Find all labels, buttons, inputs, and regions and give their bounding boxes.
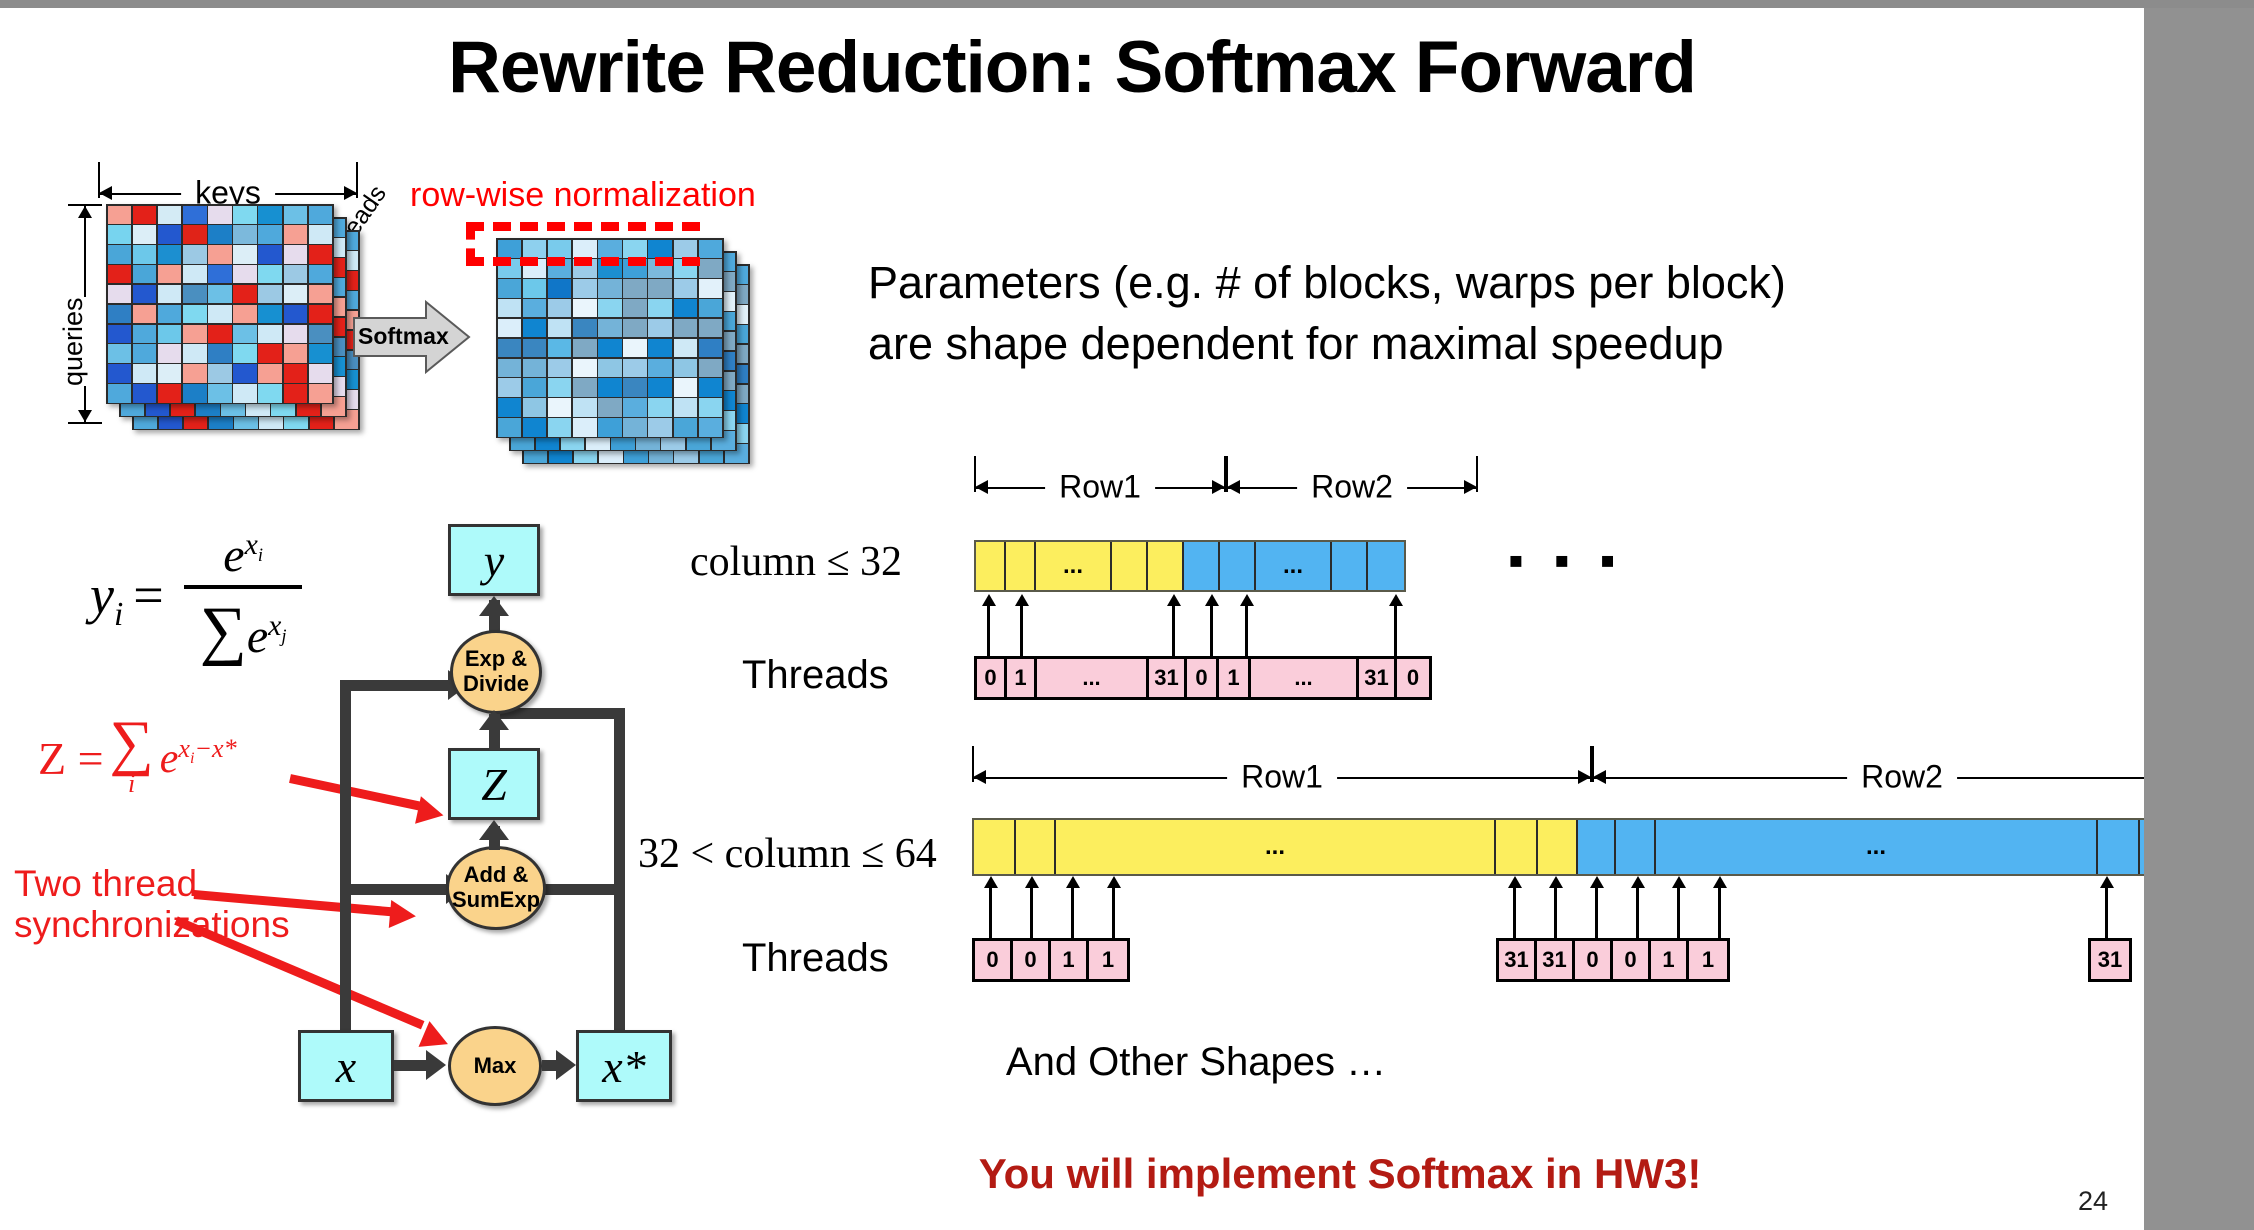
matrix-cell xyxy=(208,344,232,362)
thread-to-data-arrow xyxy=(1631,876,1645,938)
node-xstar-label: x* xyxy=(602,1040,645,1093)
matrix-cell xyxy=(158,344,182,362)
matrix-cell xyxy=(133,305,157,323)
edge-xstar-bus-vertical xyxy=(614,708,625,1054)
matrix-cell xyxy=(284,206,308,224)
thread-to-data-arrow xyxy=(1713,876,1727,938)
data-cell[interactable] xyxy=(1148,542,1184,590)
matrix-cell xyxy=(309,344,333,362)
matrix-cell xyxy=(183,245,207,263)
node-xstar[interactable]: x* xyxy=(576,1030,672,1102)
matrix-cell xyxy=(623,359,647,377)
span-label-row2: Row2 xyxy=(1847,759,1957,796)
row-diagram-1-trailing-dots: ▪ ▪ ▪ xyxy=(1508,536,1624,586)
thread-to-data-arrow xyxy=(1672,876,1686,938)
matrix-cell xyxy=(598,319,622,337)
node-exp-divide-line2: Divide xyxy=(463,672,529,697)
z-sigma-group: ∑ i xyxy=(110,718,154,799)
matrix-cell xyxy=(284,364,308,382)
z-e: e xyxy=(160,736,179,782)
row-diagram-2-thread-group-1[interactable]: 0011 xyxy=(972,938,1130,982)
matrix-cell xyxy=(233,285,257,303)
node-y[interactable]: y xyxy=(448,524,540,596)
matrix-cell xyxy=(158,364,182,382)
den-sigma: ∑ xyxy=(200,594,247,667)
matrix-cell xyxy=(208,206,232,224)
thread-cell[interactable]: 31 xyxy=(2091,941,2129,979)
arrow-stem xyxy=(1071,886,1074,938)
matrix-cell xyxy=(699,378,723,396)
matrix-cell xyxy=(284,245,308,263)
data-cell[interactable] xyxy=(1006,542,1036,590)
matrix-cell xyxy=(133,245,157,263)
matrix-cell xyxy=(258,206,282,224)
matrix-cell xyxy=(498,378,522,396)
thread-to-data-arrow xyxy=(1389,594,1403,656)
matrix-layer-front xyxy=(106,204,334,404)
data-cell[interactable] xyxy=(1332,542,1368,590)
top-gray-bar xyxy=(0,0,2254,8)
screen-canvas: Rewrite Reduction: Softmax Forward keys … xyxy=(0,0,2254,1230)
thread-to-data-arrow xyxy=(984,876,998,938)
z-exp-x: x xyxy=(178,734,190,763)
data-cell[interactable] xyxy=(1496,820,1538,874)
node-add-sumexp-line1: Add & xyxy=(464,863,529,888)
arrow-stem xyxy=(1677,886,1680,938)
thread-to-data-arrow xyxy=(1590,876,1604,938)
thread-cell[interactable]: 0 xyxy=(975,941,1013,979)
matrix-cell xyxy=(108,245,132,263)
thread-cell[interactable]: 0 xyxy=(1613,941,1651,979)
arrow-stem xyxy=(1718,886,1721,938)
data-cell[interactable]: ... xyxy=(1036,542,1112,590)
matrix-cell xyxy=(674,319,698,337)
arrow-stem xyxy=(2105,886,2108,938)
edge-arrow-into-Z xyxy=(479,820,509,840)
matrix-cell xyxy=(699,299,723,317)
matrix-cell xyxy=(108,206,132,224)
span-arrow-left xyxy=(975,480,988,494)
arrow-stem xyxy=(1394,604,1397,656)
matrix-cell xyxy=(233,265,257,283)
arrow-stem xyxy=(1210,604,1213,656)
z-rhs: exi−x* xyxy=(160,734,237,783)
matrix-cell xyxy=(548,378,572,396)
thread-cell[interactable]: 1 xyxy=(1007,659,1037,697)
data-cell[interactable] xyxy=(2098,820,2140,874)
matrix-cell xyxy=(183,364,207,382)
row-diagram-2-data-bar[interactable]: ...... xyxy=(972,818,2144,876)
den-exp: xj xyxy=(268,609,286,642)
arrow-stem xyxy=(1636,886,1639,938)
matrix-cell xyxy=(523,299,547,317)
matrix-cell xyxy=(233,206,257,224)
matrix-cell xyxy=(623,378,647,396)
span-arrow-left xyxy=(1593,770,1606,784)
thread-to-data-arrow xyxy=(1205,594,1219,656)
row-diagram-1-data-bar[interactable]: ...... xyxy=(974,540,1406,592)
matrix-cell xyxy=(309,325,333,343)
span-arrow-left xyxy=(973,770,986,784)
data-cell[interactable]: ... xyxy=(1256,542,1332,590)
row-diagram-1-threads-label: Threads xyxy=(742,653,889,698)
data-cell[interactable] xyxy=(1220,542,1256,590)
matrix-cell xyxy=(284,344,308,362)
body-line-2: are shape dependent for maximal speedup xyxy=(868,314,1786,375)
matrix-cell xyxy=(598,279,622,297)
matrix-cell xyxy=(158,225,182,243)
matrix-cell xyxy=(699,319,723,337)
matrix-cell xyxy=(623,339,647,357)
thread-cell[interactable]: 1 xyxy=(1689,941,1727,979)
thread-to-data-arrow xyxy=(1167,594,1181,656)
edge-x-to-max xyxy=(394,1060,428,1071)
row-highlight-dashed-box xyxy=(466,222,700,266)
thread-cell[interactable]: 31 xyxy=(1537,941,1575,979)
matrix-cell xyxy=(133,364,157,382)
z-exp-rest: −x* xyxy=(194,734,236,763)
matrix-cell xyxy=(498,299,522,317)
softmax-arrow: Softmax xyxy=(352,298,472,376)
matrix-cell xyxy=(258,225,282,243)
arrow-stem xyxy=(1020,604,1023,656)
formula-y: y xyxy=(90,565,114,625)
matrix-cell xyxy=(233,384,257,402)
matrix-cell xyxy=(258,245,282,263)
matrix-cell xyxy=(233,225,257,243)
node-add-sumexp[interactable]: Add & SumExp xyxy=(446,846,546,930)
row-diagram-2-threads-label: Threads xyxy=(742,936,889,981)
matrix-cell xyxy=(309,384,333,402)
node-max[interactable]: Max xyxy=(448,1026,542,1106)
matrix-cell xyxy=(183,285,207,303)
output-softmax-matrix xyxy=(496,238,756,468)
thread-cell[interactable]: 1 xyxy=(1051,941,1089,979)
thread-cell[interactable]: 0 xyxy=(977,659,1007,697)
data-cell[interactable] xyxy=(1368,542,1404,590)
matrix-cell xyxy=(133,206,157,224)
matrix-cell xyxy=(258,364,282,382)
matrix-cell xyxy=(573,299,597,317)
data-cell[interactable] xyxy=(1016,820,1056,874)
formula-lhs: yi= xyxy=(90,564,174,634)
matrix-cell xyxy=(183,265,207,283)
matrix-cell xyxy=(208,225,232,243)
thread-cell[interactable]: 31 xyxy=(1149,659,1187,697)
thread-to-data-arrow xyxy=(1107,876,1121,938)
matrix-cell xyxy=(699,359,723,377)
row-diagram-1-thread-bar[interactable]: 01...3101...310 xyxy=(974,656,1432,700)
matrix-cell xyxy=(548,319,572,337)
matrix-cell xyxy=(648,319,672,337)
matrix-cell xyxy=(309,364,333,382)
matrix-cell xyxy=(284,225,308,243)
den-exp-x: x xyxy=(268,609,281,642)
matrix-cell xyxy=(133,285,157,303)
z-exponent: xi−x* xyxy=(178,734,236,763)
den-exp-sub: j xyxy=(281,626,286,646)
thread-cell[interactable]: 1 xyxy=(1089,941,1127,979)
arrow-stem xyxy=(1172,604,1175,656)
matrix-cell xyxy=(208,245,232,263)
node-exp-divide-line1: Exp & xyxy=(465,647,527,672)
matrix-cell xyxy=(309,245,333,263)
matrix-cell xyxy=(133,265,157,283)
data-cell[interactable] xyxy=(2140,820,2144,874)
matrix-cell xyxy=(233,344,257,362)
matrix-cell xyxy=(208,364,232,382)
formula-numerator: exi xyxy=(207,528,279,585)
matrix-cell xyxy=(699,339,723,357)
matrix-cell xyxy=(648,398,672,416)
thread-to-data-arrow xyxy=(1066,876,1080,938)
span-arrow-right xyxy=(1578,770,1591,784)
matrix-cell xyxy=(309,206,333,224)
matrix-cell xyxy=(183,344,207,362)
ruler-end-bottom xyxy=(68,422,102,424)
row-wise-normalization-label: row-wise normalization xyxy=(410,176,756,215)
matrix-cell xyxy=(233,325,257,343)
matrix-cell xyxy=(674,398,698,416)
other-shapes-note: And Other Shapes … xyxy=(1006,1040,1386,1085)
matrix-cell xyxy=(284,265,308,283)
matrix-cell xyxy=(208,384,232,402)
row-diagram-1-row1-span: Row1 xyxy=(974,470,1226,504)
row-diagram-2-thread-group-3[interactable]: 31 xyxy=(2088,938,2132,982)
matrix-cell xyxy=(598,299,622,317)
matrix-cell xyxy=(523,339,547,357)
matrix-cell xyxy=(623,299,647,317)
matrix-cell xyxy=(573,279,597,297)
matrix-cell xyxy=(158,206,182,224)
matrix-cell xyxy=(258,305,282,323)
matrix-cell xyxy=(598,418,622,436)
matrix-cell xyxy=(573,359,597,377)
matrix-cell xyxy=(573,398,597,416)
matrix-cell xyxy=(133,384,157,402)
matrix-cell xyxy=(699,398,723,416)
matrix-cell xyxy=(548,398,572,416)
matrix-cell xyxy=(548,339,572,357)
matrix-cell xyxy=(258,285,282,303)
matrix-cell xyxy=(498,398,522,416)
thread-cell[interactable]: 0 xyxy=(1187,659,1219,697)
data-cell[interactable] xyxy=(1616,820,1656,874)
num-exp-sub: i xyxy=(258,545,263,565)
matrix-cell xyxy=(674,279,698,297)
matrix-cell xyxy=(598,378,622,396)
matrix-cell xyxy=(183,305,207,323)
thread-to-data-arrow xyxy=(1508,876,1522,938)
data-cell[interactable] xyxy=(976,542,1006,590)
matrix-cell xyxy=(208,285,232,303)
matrix-cell xyxy=(623,319,647,337)
data-cell[interactable] xyxy=(1112,542,1148,590)
matrix-cell xyxy=(158,384,182,402)
thread-to-data-arrow xyxy=(1549,876,1563,938)
thread-cell[interactable]: ... xyxy=(1037,659,1149,697)
matrix-cell xyxy=(523,359,547,377)
matrix-cell xyxy=(674,378,698,396)
matrix-cell xyxy=(183,384,207,402)
red-pointer-arrow-max xyxy=(176,916,466,1036)
z-lhs: Z = xyxy=(38,732,104,785)
matrix-cell xyxy=(233,305,257,323)
matrix-cell xyxy=(183,225,207,243)
matrix-cell xyxy=(598,339,622,357)
arrow-stem xyxy=(1245,604,1248,656)
z-formula: Z = ∑ i exi−x* xyxy=(38,718,237,799)
data-cell[interactable]: ... xyxy=(1656,820,2098,874)
data-cell[interactable] xyxy=(1538,820,1578,874)
matrix-cell xyxy=(183,206,207,224)
matrix-cell xyxy=(108,364,132,382)
arrow-stem xyxy=(1112,886,1115,938)
matrix-cell xyxy=(284,384,308,402)
data-cell[interactable] xyxy=(974,820,1016,874)
thread-cell[interactable]: 0 xyxy=(1575,941,1613,979)
matrix-cell xyxy=(498,418,522,436)
matrix-cell xyxy=(284,305,308,323)
matrix-cell xyxy=(258,325,282,343)
matrix-cell xyxy=(648,339,672,357)
thread-to-data-arrow xyxy=(2100,876,2114,938)
matrix-cell xyxy=(498,359,522,377)
matrix-cell xyxy=(598,398,622,416)
data-cell[interactable]: ... xyxy=(1056,820,1496,874)
arrow-stem xyxy=(1513,886,1516,938)
matrix-cell xyxy=(623,398,647,416)
matrix-cell xyxy=(158,285,182,303)
matrix-layer-front xyxy=(496,238,724,438)
softmax-arrow-label: Softmax xyxy=(358,323,449,350)
edge-arrow-into-y xyxy=(479,596,509,616)
node-exp-divide[interactable]: Exp & Divide xyxy=(450,630,542,714)
data-cell[interactable] xyxy=(1578,820,1616,874)
row-diagram-2-thread-group-2[interactable]: 31310011 xyxy=(1496,938,1730,982)
matrix-cell xyxy=(183,325,207,343)
thread-cell[interactable]: 0 xyxy=(1013,941,1051,979)
formula-equals: = xyxy=(123,565,173,625)
softmax-formula: yi= exi ∑exj xyxy=(90,528,302,669)
num-exp-x: x xyxy=(245,528,258,561)
arrow-stem xyxy=(1554,886,1557,938)
matrix-cell xyxy=(498,339,522,357)
arrow-shaft xyxy=(289,774,420,810)
page-number: 24 xyxy=(2078,1186,2108,1217)
node-Z[interactable]: Z xyxy=(448,748,540,820)
arrow-stem xyxy=(987,604,990,656)
edge-x-to-expdivide-horizontal xyxy=(340,680,450,691)
formula-fraction: exi ∑exj xyxy=(184,528,303,669)
row-diagram-2-row1-span: Row1 xyxy=(972,760,1592,794)
matrix-cell xyxy=(158,265,182,283)
matrix-cell xyxy=(523,319,547,337)
matrix-cell xyxy=(258,384,282,402)
matrix-cell xyxy=(548,418,572,436)
matrix-cell xyxy=(309,305,333,323)
matrix-cell xyxy=(498,319,522,337)
span-label-row1: Row1 xyxy=(1227,759,1337,796)
matrix-cell xyxy=(573,339,597,357)
matrix-cell xyxy=(548,359,572,377)
matrix-cell xyxy=(208,325,232,343)
matrix-cell xyxy=(158,325,182,343)
matrix-cell xyxy=(498,279,522,297)
matrix-cell xyxy=(699,279,723,297)
matrix-cell xyxy=(309,225,333,243)
matrix-cell xyxy=(258,265,282,283)
thread-cell[interactable]: 1 xyxy=(1219,659,1251,697)
thread-cell[interactable]: 0 xyxy=(1397,659,1429,697)
matrix-cell xyxy=(648,299,672,317)
den-e: e xyxy=(247,610,268,663)
arrow-stem xyxy=(1030,886,1033,938)
matrix-cell xyxy=(309,265,333,283)
node-x[interactable]: x xyxy=(298,1030,394,1102)
matrix-cell xyxy=(108,344,132,362)
matrix-cell xyxy=(573,378,597,396)
matrix-cell xyxy=(158,305,182,323)
matrix-cell xyxy=(623,418,647,436)
span-arrow-right xyxy=(1212,480,1225,494)
thread-cell[interactable]: ... xyxy=(1251,659,1359,697)
thread-to-data-arrow xyxy=(982,594,996,656)
edge-xstar-to-addsumexp-horizontal xyxy=(540,884,625,895)
formula-y-subscript: i xyxy=(114,595,123,632)
matrix-cell xyxy=(208,265,232,283)
row-diagram-1-row2-span: Row2 xyxy=(1226,470,1478,504)
edge-arrow-into-expdivide-bottom xyxy=(479,710,509,730)
edge-x-to-addsumexp-horizontal xyxy=(340,884,448,895)
matrix-cell xyxy=(523,378,547,396)
row-diagram-2-condition: 32 < column ≤ 64 xyxy=(638,830,937,878)
matrix-cell xyxy=(573,319,597,337)
formula-denominator: ∑exj xyxy=(184,589,303,669)
data-cell[interactable] xyxy=(1184,542,1220,590)
thread-cell[interactable]: 31 xyxy=(1499,941,1537,979)
matrix-cell xyxy=(648,279,672,297)
matrix-cell xyxy=(548,279,572,297)
matrix-cell xyxy=(523,398,547,416)
ruler-arrow-left xyxy=(99,186,112,200)
matrix-cell xyxy=(108,225,132,243)
matrix-cell xyxy=(233,245,257,263)
node-y-label: y xyxy=(484,534,504,587)
node-add-sumexp-line2: SumExp xyxy=(452,888,540,913)
matrix-cell xyxy=(623,279,647,297)
matrix-cell xyxy=(133,325,157,343)
z-sigma-index: i xyxy=(128,769,135,799)
matrix-cell xyxy=(108,265,132,283)
thread-cell[interactable]: 1 xyxy=(1651,941,1689,979)
z-sigma: ∑ xyxy=(110,718,154,769)
thread-cell[interactable]: 31 xyxy=(1359,659,1397,697)
span-label-row1: Row1 xyxy=(1045,469,1155,506)
matrix-cell xyxy=(523,279,547,297)
edge-x-bus-vertical xyxy=(340,680,351,1062)
span-label-row2: Row2 xyxy=(1297,469,1407,506)
matrix-cell xyxy=(208,305,232,323)
num-e: e xyxy=(223,529,244,582)
matrix-cell xyxy=(699,418,723,436)
edge-arrow-into-max xyxy=(426,1050,446,1080)
matrix-cell xyxy=(108,285,132,303)
body-line-1: Parameters (e.g. # of blocks, warps per … xyxy=(868,253,1786,314)
arrow-stem xyxy=(1595,886,1598,938)
edge-arrow-into-xstar xyxy=(556,1050,576,1080)
matrix-cell xyxy=(108,305,132,323)
